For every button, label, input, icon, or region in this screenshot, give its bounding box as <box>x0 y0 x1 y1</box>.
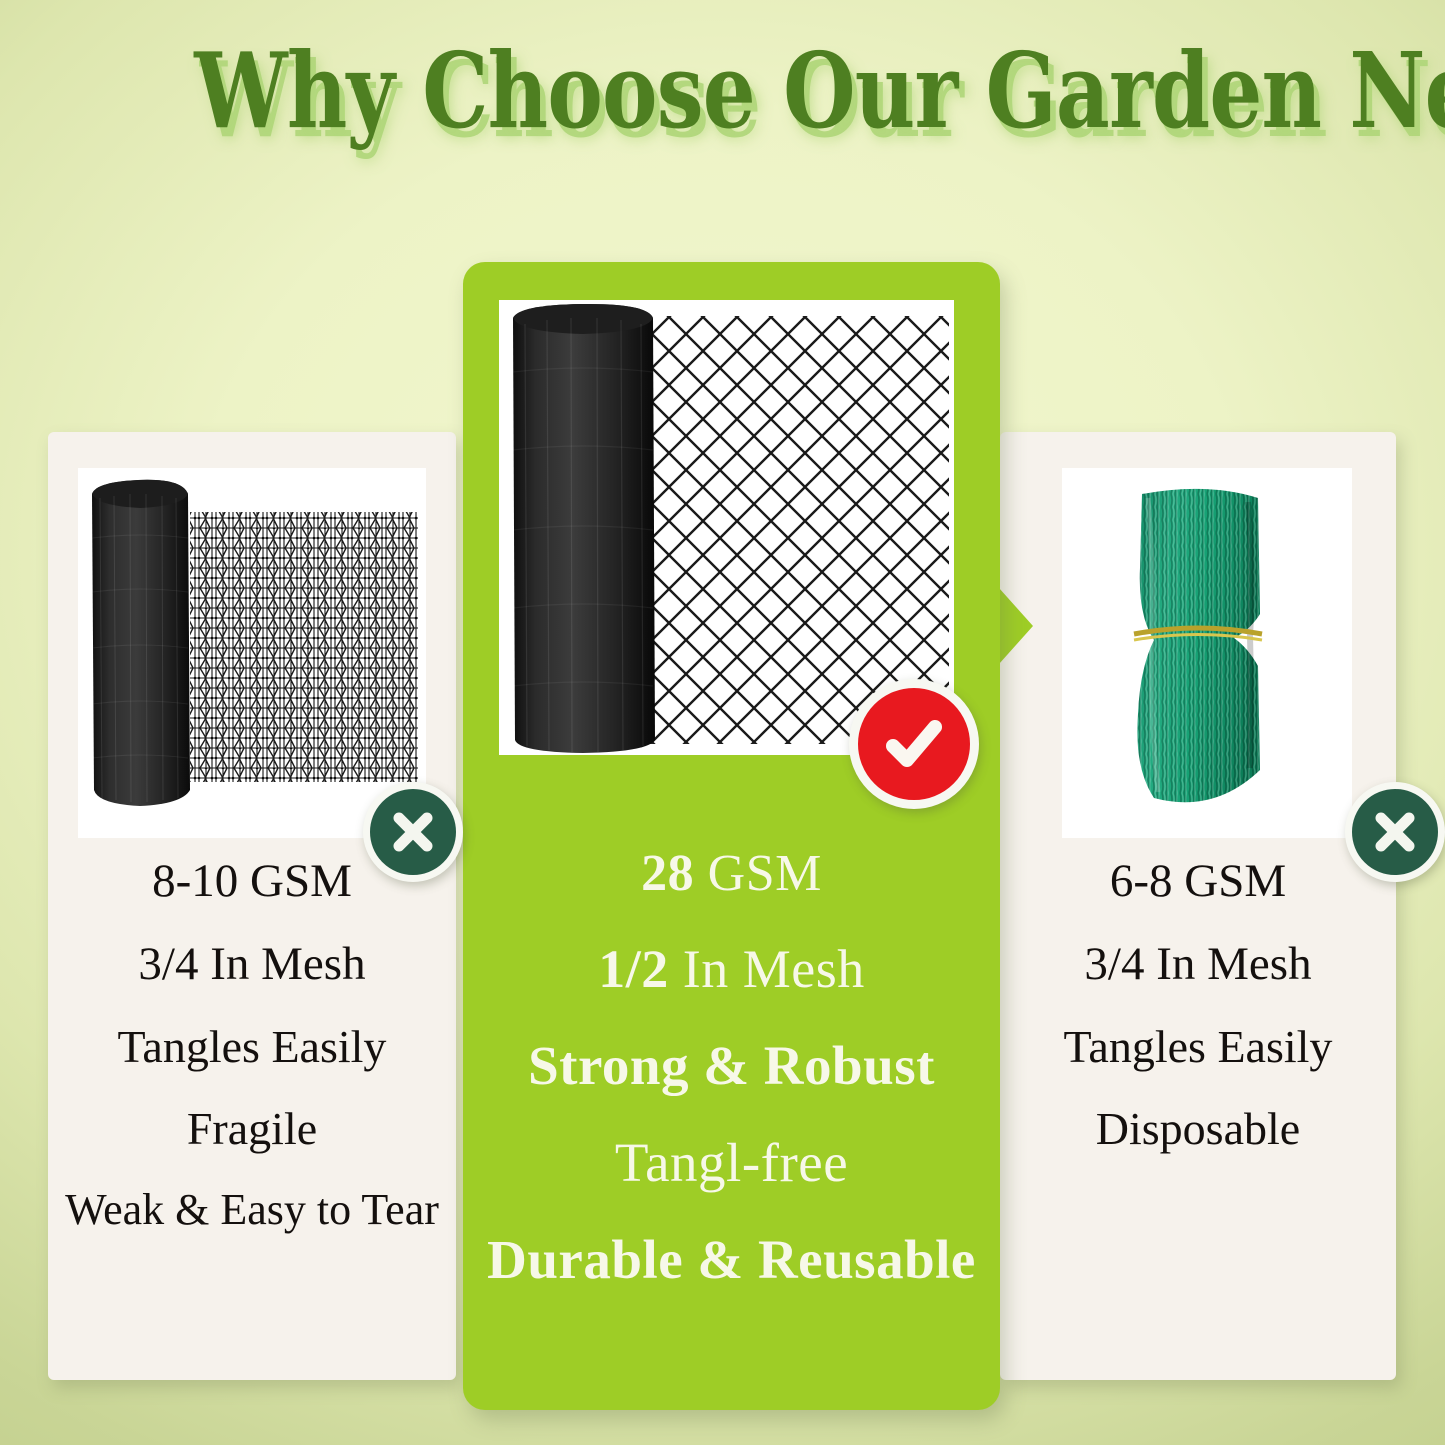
green-netting-bundle-skein-icon <box>1062 468 1352 838</box>
competitor-left-verdict-badge <box>363 782 463 882</box>
spec-item: 3/4 In Mesh <box>48 941 456 988</box>
spec-item: Tangl-free <box>463 1135 1000 1190</box>
our-product-verdict-badge <box>849 679 979 809</box>
spec-item: Durable & Reusable <box>463 1232 1000 1287</box>
page-title: Why Choose Our Garden Netting? <box>194 36 1445 145</box>
spec-item: Strong & Robust <box>463 1038 1000 1093</box>
spec-item: Fragile <box>48 1106 456 1152</box>
black-netting-roll-loose-mesh-icon <box>78 468 426 838</box>
spec-item: 3/4 In Mesh <box>1000 941 1396 988</box>
competitor-left-product-image <box>78 468 426 838</box>
competitor-right-product-image <box>1062 468 1352 838</box>
spec-item: Disposable <box>1000 1106 1396 1152</box>
spec-highlight: 1/2 <box>598 939 669 999</box>
spec-item: Tangles Easily <box>1000 1024 1396 1070</box>
headline-container: Why Choose Our Garden Netting? <box>0 36 1445 145</box>
panel-pointer-arrow <box>999 588 1033 664</box>
spec-item: Tangles Easily <box>48 1024 456 1070</box>
competitor-right-spec-list: 6-8 GSM 3/4 In Mesh Tangles Easily Dispo… <box>1000 858 1396 1152</box>
spec-rest: In Mesh <box>669 939 865 999</box>
spec-item: 1/2 In Mesh <box>463 942 1000 996</box>
spec-rest: GSM <box>694 845 822 902</box>
spec-item: 6-8 GSM <box>1000 858 1396 905</box>
x-mark-icon <box>1368 805 1422 859</box>
competitor-right-verdict-badge <box>1345 782 1445 882</box>
competitor-left-spec-list: 8-10 GSM 3/4 In Mesh Tangles Easily Frag… <box>48 858 456 1232</box>
spec-item: 28 GSM <box>463 848 1000 900</box>
spec-highlight: 28 <box>641 845 694 902</box>
spec-item: Weak & Easy to Tear <box>48 1188 456 1232</box>
x-mark-icon <box>386 805 440 859</box>
comparison-infographic: Why Choose Our Garden Netting? <box>0 0 1445 1445</box>
our-product-spec-list: 28 GSM 1/2 In Mesh Strong & Robust Tangl… <box>463 848 1000 1287</box>
check-mark-icon <box>878 708 950 780</box>
